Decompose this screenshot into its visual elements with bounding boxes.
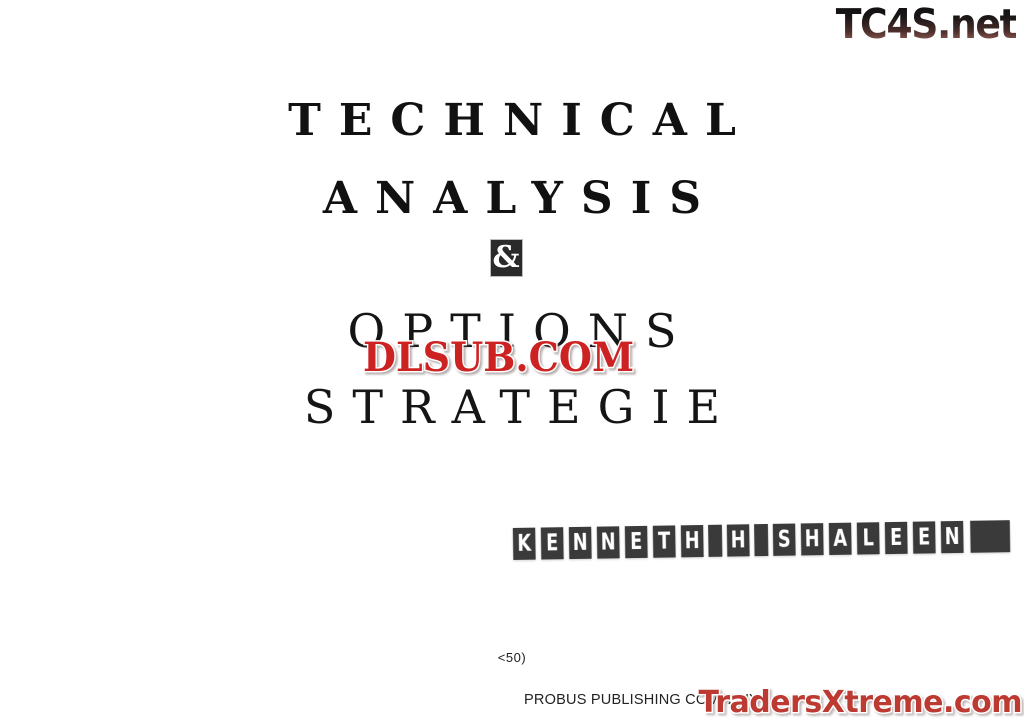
author-tile-a: A [829, 523, 852, 555]
author-tile-n: N [941, 521, 964, 553]
author-tile-n: N [569, 527, 592, 559]
author-tile-h: H [681, 525, 704, 557]
watermark-tc4s: TC4S.net [835, 2, 1016, 46]
title-line-technical: TECHNICAL [0, 96, 1024, 146]
author-tile-e: E [913, 521, 936, 553]
author-tile-blank [708, 525, 722, 557]
cover-title-block: TECHNICAL ANALYSIS & OPTIONS STRATEGIE [0, 96, 1024, 434]
author-tile-e: E [885, 522, 908, 554]
author-tile-t: T [653, 525, 676, 557]
author-tile-h: H [801, 523, 824, 555]
watermark-tradersxtreme: TradersXtreme.com [699, 686, 1022, 720]
title-ampersand-block: & [491, 240, 522, 276]
author-tile-blank [970, 520, 1010, 553]
author-tile-n: N [597, 526, 620, 558]
author-tile-e: E [541, 527, 564, 559]
author-tile-l: L [857, 522, 880, 554]
book-cover-page: TC4S.net TECHNICAL ANALYSIS & OPTIONS ST… [0, 0, 1024, 724]
title-line-analysis: ANALYSIS [0, 174, 1024, 224]
author-tile-k: K [513, 528, 536, 560]
title-line-strategie: STRATEGIE [0, 380, 1024, 434]
author-tile-h: H [727, 524, 750, 556]
title-conjunction-wrap: & [0, 236, 1024, 280]
author-tile-blank [754, 524, 768, 556]
author-tile-s: S [773, 524, 796, 556]
author-name-bar: KENNETH H SHALEEN [511, 520, 1013, 560]
author-tile-e: E [625, 526, 648, 558]
page-mark: <50) [0, 650, 1024, 665]
watermark-dlsub: DLSUB.COM [363, 337, 634, 379]
